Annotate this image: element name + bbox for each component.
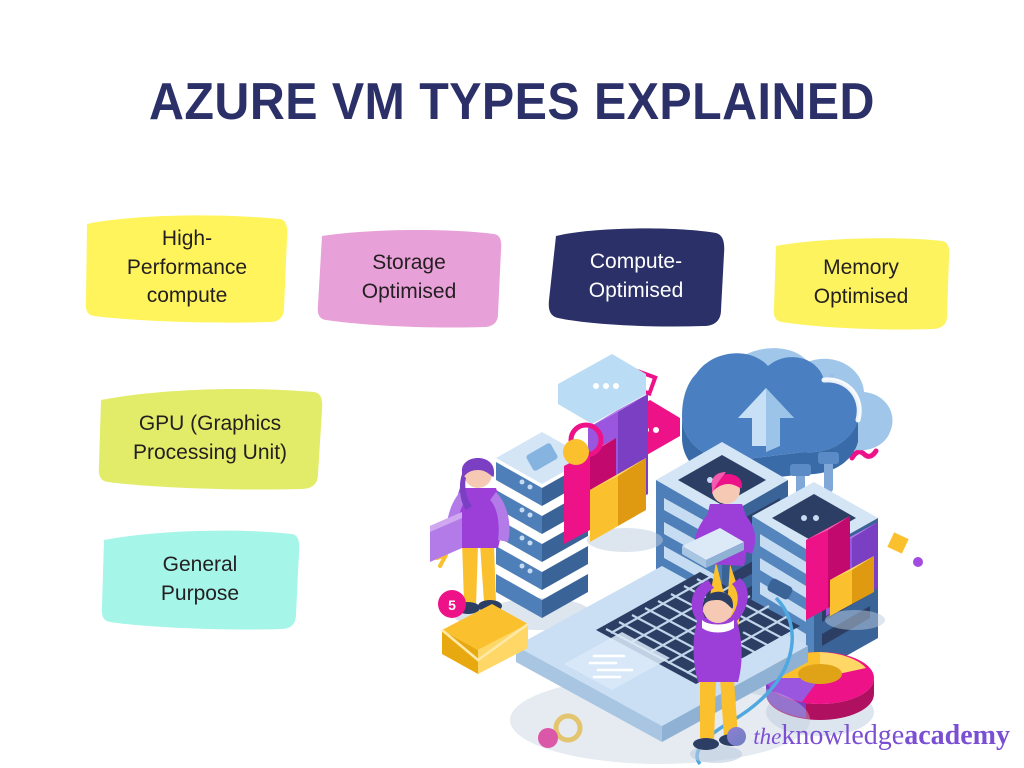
chip-label: Memory Optimised: [814, 254, 909, 312]
chip-memory-optimised[interactable]: Memory Optimised: [772, 236, 950, 330]
logo-circle-icon: [727, 727, 746, 746]
brand-logo[interactable]: theknowledgeacademy: [727, 720, 1010, 752]
isometric-cloud-datacenter-illustration: 5: [400, 330, 1024, 768]
logo-wordmark: theknowledgeacademy: [753, 720, 1010, 752]
logo-the: the: [753, 724, 781, 749]
chip-label: High- Performance compute: [127, 225, 247, 312]
chip-storage-optimised[interactable]: Storage Optimised: [316, 228, 502, 328]
chip-general-purpose[interactable]: General Purpose: [100, 528, 300, 632]
logo-knowledge: knowledge: [781, 720, 904, 751]
chip-compute-optimised[interactable]: Compute- Optimised: [546, 226, 726, 328]
chip-label: Compute- Optimised: [589, 248, 684, 306]
logo-academy: academy: [904, 720, 1010, 751]
infographic-canvas: AZURE VM TYPES EXPLAINED High- Performan…: [0, 0, 1024, 768]
chip-label: General Purpose: [161, 551, 239, 609]
page-title: AZURE VM TYPES EXPLAINED: [36, 72, 988, 132]
chip-label: GPU (Graphics Processing Unit): [133, 410, 287, 468]
chip-label: Storage Optimised: [362, 249, 457, 307]
envelope-badge-count: 5: [448, 597, 456, 613]
chip-gpu[interactable]: GPU (Graphics Processing Unit): [96, 386, 324, 492]
chip-high-performance-compute[interactable]: High- Performance compute: [84, 212, 290, 324]
